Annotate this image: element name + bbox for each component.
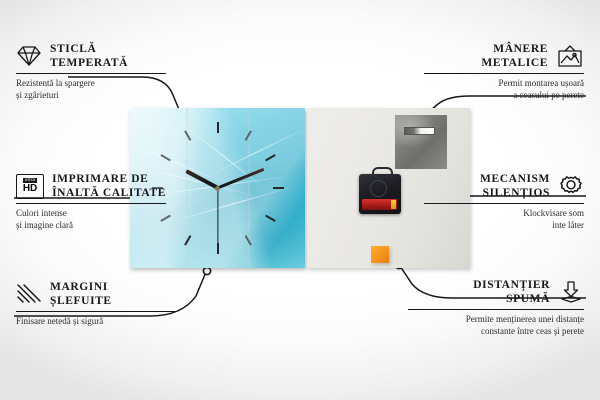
feature-title: MECANISM [480,172,550,186]
down-arrow-stack-icon [558,280,584,304]
feature-title: IMPRIMARE DE [52,172,166,186]
clock-hour-hand [185,169,219,189]
divider [424,203,584,204]
divider [424,73,584,74]
feature-silent-mechanism: MECANISM SILENȚIOS Klockvisare som inte … [424,172,584,231]
feature-desc-2: a ceasului pe perete [424,90,584,102]
feature-title: MARGINI [50,280,112,294]
metal-hanger-plate [395,115,447,169]
feature-title-2: SPUMĂ [473,292,550,306]
divider [16,311,176,312]
feature-polished-edges: MARGINI ȘLEFUITE Finisare netedă și sigu… [16,280,176,328]
divider [16,203,166,204]
feature-desc: Permite menținerea unei distanțe [408,314,584,326]
feature-title-2: ÎNALTĂ CALITATE [52,186,166,200]
gear-icon [558,174,584,198]
clock-hand-cap [215,186,220,191]
ultra-hd-icon: ultra HD [16,174,44,199]
infographic-canvas: STICLĂ TEMPERATĂ Rezistentă la spargere … [0,0,600,400]
feature-desc-2: inte låter [424,220,584,232]
feature-title-2: METALICE [481,56,548,70]
foam-spacer-block [371,246,389,263]
feature-tempered-glass: STICLĂ TEMPERATĂ Rezistentă la spargere … [16,42,166,101]
clock-second-hand [217,188,218,244]
feature-desc-2: și imagine clară [16,220,166,232]
feature-foam-spacer: DISTANȚIER SPUMĂ Permite menținerea unei… [408,278,584,337]
feature-desc: Klockvisare som [424,208,584,220]
divider [16,73,166,74]
feature-desc: Culori intense [16,208,166,220]
callout-dot-polished-edges [203,267,210,274]
feature-title: MÂNERE [481,42,548,56]
clock-minute-hand [217,168,264,190]
movement-hook [372,167,393,180]
diamond-icon [16,45,42,67]
feature-title-2: ȘLEFUITE [50,294,112,308]
feature-desc: Finisare netedă și sigură [16,316,176,328]
feature-desc: Rezistentă la spargere [16,78,166,90]
feature-title-2: TEMPERATĂ [50,56,128,70]
feature-title: DISTANȚIER [473,278,550,292]
feature-desc: Permit montarea ușoară [424,78,584,90]
feature-desc-2: și zgârieturi [16,90,166,102]
product-image-group [130,108,470,268]
picture-hanger-icon [556,44,584,68]
feature-title: STICLĂ [50,42,128,56]
battery-terminal [391,200,397,209]
feature-title-2: SILENȚIOS [480,186,550,200]
diagonal-lines-icon [16,283,42,305]
movement-shaft [370,180,387,197]
feature-metal-handles: MÂNERE METALICE Permit montarea ușoară a… [424,42,584,101]
aa-battery [362,199,397,210]
divider [408,309,584,310]
ultra-hd-icon-main: HD [23,184,37,194]
quartz-movement [359,174,401,214]
hanger-slot [404,127,435,135]
feature-hd-print: ultra HD IMPRIMARE DE ÎNALTĂ CALITATE Cu… [16,172,166,231]
feature-desc-2: constante între ceas și perete [408,326,584,338]
